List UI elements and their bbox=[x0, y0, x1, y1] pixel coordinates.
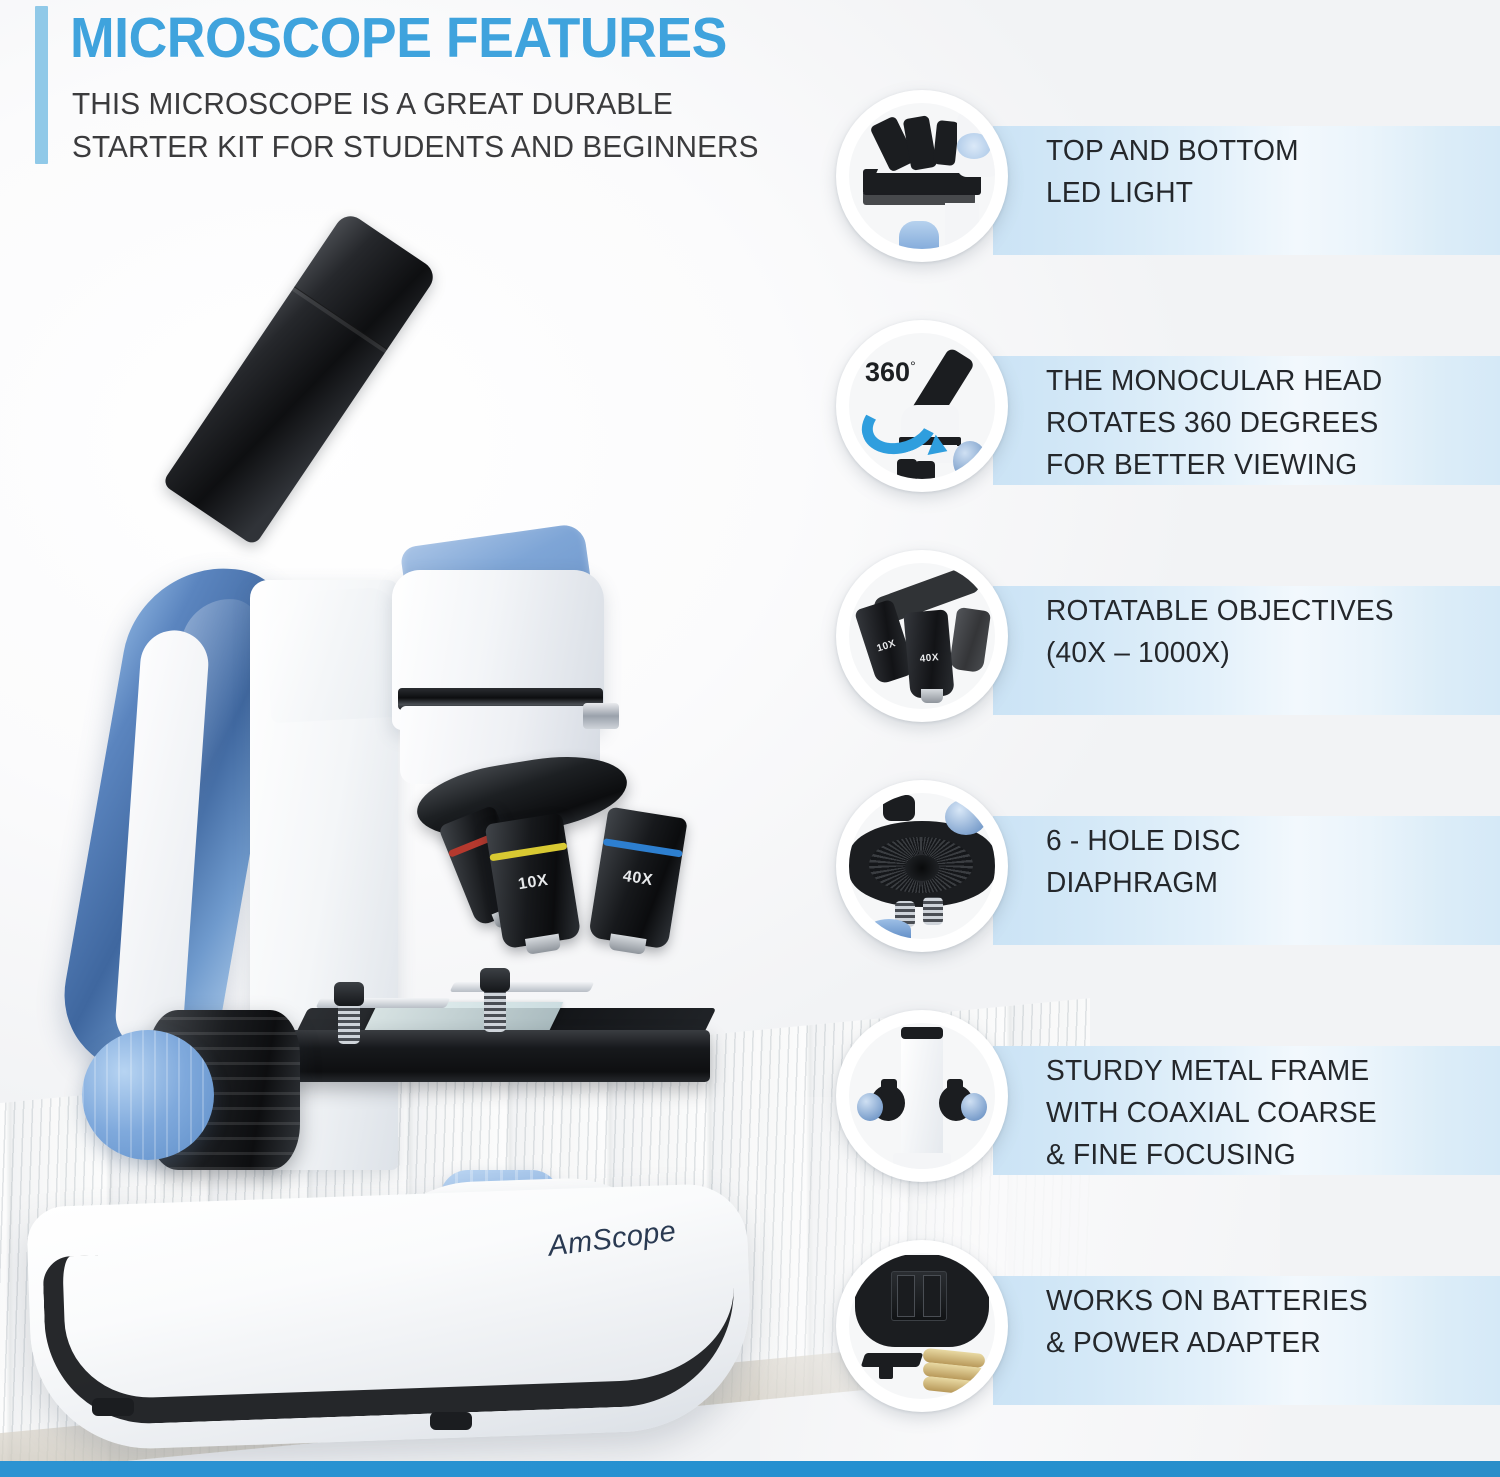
led-light-thumbnail[interactable] bbox=[836, 90, 1008, 262]
disc-diaphragm-thumbnail[interactable] bbox=[836, 780, 1008, 952]
stage-spring-screw-right bbox=[484, 988, 506, 1032]
feature-item-objectives[interactable]: 10X 40X ROTATABLE OBJECTIVES (40X – 1000… bbox=[818, 542, 1500, 772]
fine-focus-knob bbox=[82, 1030, 214, 1160]
feature-label: WORKS ON BATTERIES & POWER ADAPTER bbox=[1046, 1280, 1473, 1364]
page-title: MICROSCOPE FEATURES bbox=[70, 5, 727, 71]
degree-symbol: ° bbox=[910, 358, 916, 374]
thumbnail-image: 360° bbox=[849, 333, 995, 479]
microscope-product-photo: 10X 40X AmScope bbox=[0, 150, 820, 1450]
feature-item-metal-frame[interactable]: STURDY METAL FRAME WITH COAXIAL COARSE &… bbox=[818, 1002, 1500, 1232]
feature-item-led-light[interactable]: TOP AND BOTTOM LED LIGHT bbox=[818, 82, 1500, 312]
objective-lens-40x: 40X bbox=[588, 807, 688, 950]
metal-frame-thumbnail[interactable] bbox=[836, 1010, 1008, 1182]
stage-spring-screw-left bbox=[338, 1002, 360, 1044]
feature-label: TOP AND BOTTOM LED LIGHT bbox=[1046, 130, 1473, 214]
objectives-thumbnail[interactable]: 10X 40X bbox=[836, 550, 1008, 722]
lens-tip bbox=[609, 934, 646, 955]
column-upper-bracket bbox=[265, 587, 402, 724]
title-accent-bar bbox=[35, 6, 48, 164]
feature-label: THE MONOCULAR HEAD ROTATES 360 DEGREES F… bbox=[1046, 360, 1473, 486]
eyepiece-tube bbox=[162, 210, 439, 546]
feature-item-rotating-head[interactable]: 360° THE MONOCULAR HEAD ROTATES 360 DEGR… bbox=[818, 312, 1500, 542]
base-foot-right bbox=[430, 1412, 472, 1430]
thumbnail-image bbox=[849, 1253, 995, 1399]
feature-item-diaphragm[interactable]: 6 - HOLE DISC DIAPHRAGM bbox=[818, 772, 1500, 1002]
stage-clip-right bbox=[450, 982, 595, 992]
infographic-canvas: MICROSCOPE FEATURES THIS MICROSCOPE IS A… bbox=[0, 0, 1500, 1477]
lens-tip bbox=[525, 934, 561, 955]
thumbnail-image bbox=[849, 793, 995, 939]
feature-item-power[interactable]: WORKS ON BATTERIES & POWER ADAPTER bbox=[818, 1232, 1500, 1462]
lens-color-band-yellow bbox=[489, 842, 567, 861]
thumbnail-image: 10X 40X bbox=[849, 563, 995, 709]
lens-label-40x: 40X bbox=[597, 864, 679, 894]
feature-label: ROTATABLE OBJECTIVES (40X – 1000X) bbox=[1046, 590, 1473, 674]
thumb-lens-label-40x: 40X bbox=[907, 651, 952, 666]
battery-power-thumbnail[interactable] bbox=[836, 1240, 1008, 1412]
feature-label: 6 - HOLE DISC DIAPHRAGM bbox=[1046, 820, 1473, 904]
lens-color-band-blue bbox=[603, 838, 683, 857]
feature-list: TOP AND BOTTOM LED LIGHT 360° bbox=[818, 0, 1500, 1477]
stage-screw-head-right bbox=[480, 968, 510, 992]
base-rubber-trim bbox=[42, 1233, 738, 1427]
thumbnail-image bbox=[849, 103, 995, 249]
rotation-badge-value: 360 bbox=[865, 357, 910, 387]
rotation-badge: 360° bbox=[865, 357, 916, 388]
thumb-lens-label-10x: 10X bbox=[866, 635, 907, 658]
lens-label-10x: 10X bbox=[493, 868, 573, 898]
thumbnail-image bbox=[849, 1023, 995, 1169]
rotating-head-thumbnail[interactable]: 360° bbox=[836, 320, 1008, 492]
base-foot-left bbox=[92, 1398, 134, 1416]
objective-lens-10x: 10X bbox=[485, 813, 582, 950]
header: MICROSCOPE FEATURES THIS MICROSCOPE IS A… bbox=[0, 0, 820, 175]
feature-label: STURDY METAL FRAME WITH COAXIAL COARSE &… bbox=[1046, 1050, 1473, 1176]
head-lock-screw bbox=[583, 703, 619, 729]
bottom-accent-strip bbox=[0, 1461, 1500, 1477]
stage-screw-head-left bbox=[334, 982, 364, 1006]
